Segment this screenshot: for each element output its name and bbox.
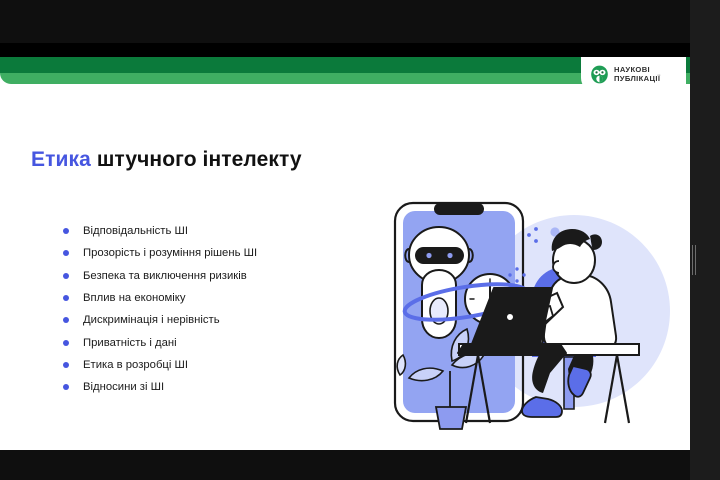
brand-logo-text: НАУКОВІ ПУБЛІКАЦІЇ bbox=[614, 66, 660, 82]
bullet-dot-icon bbox=[63, 295, 69, 301]
slide-top-black-strip bbox=[0, 43, 690, 57]
list-item: Відносини зі ШІ bbox=[63, 376, 393, 398]
slide-title-highlight: Етика bbox=[31, 148, 91, 171]
list-item-label: Етика в розробці ШІ bbox=[83, 359, 188, 371]
bullet-dot-icon bbox=[63, 228, 69, 234]
list-item: Вплив на економіку bbox=[63, 287, 393, 309]
list-item-label: Відносини зі ШІ bbox=[83, 381, 164, 393]
list-item: Відповідальність ШІ bbox=[63, 220, 393, 242]
list-item: Дискримінація і нерівність bbox=[63, 309, 393, 331]
brand-logo-line2: ПУБЛІКАЦІЇ bbox=[614, 75, 660, 83]
bullet-dot-icon bbox=[63, 273, 69, 279]
bullet-dot-icon bbox=[63, 362, 69, 368]
presentation-slide[interactable]: НАУКОВІ ПУБЛІКАЦІЇ Етика штучного інтеле… bbox=[0, 43, 690, 450]
list-item-label: Безпека та виключення ризиків bbox=[83, 270, 247, 282]
panel-collapse-handle[interactable] bbox=[690, 243, 698, 277]
right-participant-rail[interactable] bbox=[690, 0, 720, 480]
slide-title: Етика штучного інтелекту bbox=[31, 148, 302, 172]
list-item-label: Дискримінація і нерівність bbox=[83, 314, 220, 326]
list-item: Безпека та виключення ризиків bbox=[63, 265, 393, 287]
list-item-label: Прозорість і розуміння рішень ШІ bbox=[83, 247, 257, 259]
owl-icon bbox=[590, 65, 609, 84]
handle-grip-line bbox=[692, 245, 693, 275]
brand-logo: НАУКОВІ ПУБЛІКАЦІЇ bbox=[581, 57, 686, 92]
list-item: Прозорість і розуміння рішень ШІ bbox=[63, 242, 393, 264]
list-item: Приватність і дані bbox=[63, 331, 393, 353]
bullet-dot-icon bbox=[63, 384, 69, 390]
screen-share-window: НАУКОВІ ПУБЛІКАЦІЇ Етика штучного інтеле… bbox=[0, 0, 720, 480]
shared-screen-stage[interactable]: НАУКОВІ ПУБЛІКАЦІЇ Етика штучного інтеле… bbox=[0, 0, 690, 480]
list-item-label: Вплив на економіку bbox=[83, 292, 186, 304]
slide-bullet-list: Відповідальність ШІ Прозорість і розумін… bbox=[63, 220, 393, 398]
list-item: Етика в розробці ШІ bbox=[63, 354, 393, 376]
bullet-dot-icon bbox=[63, 340, 69, 346]
list-item-label: Приватність і дані bbox=[83, 337, 177, 349]
bullet-dot-icon bbox=[63, 317, 69, 323]
list-item-label: Відповідальність ШІ bbox=[83, 225, 188, 237]
person-at-laptop-with-ai-robot-illustration bbox=[386, 189, 676, 439]
slide-title-rest: штучного інтелекту bbox=[91, 148, 302, 171]
handle-grip-line bbox=[695, 245, 696, 275]
bullet-dot-icon bbox=[63, 250, 69, 256]
